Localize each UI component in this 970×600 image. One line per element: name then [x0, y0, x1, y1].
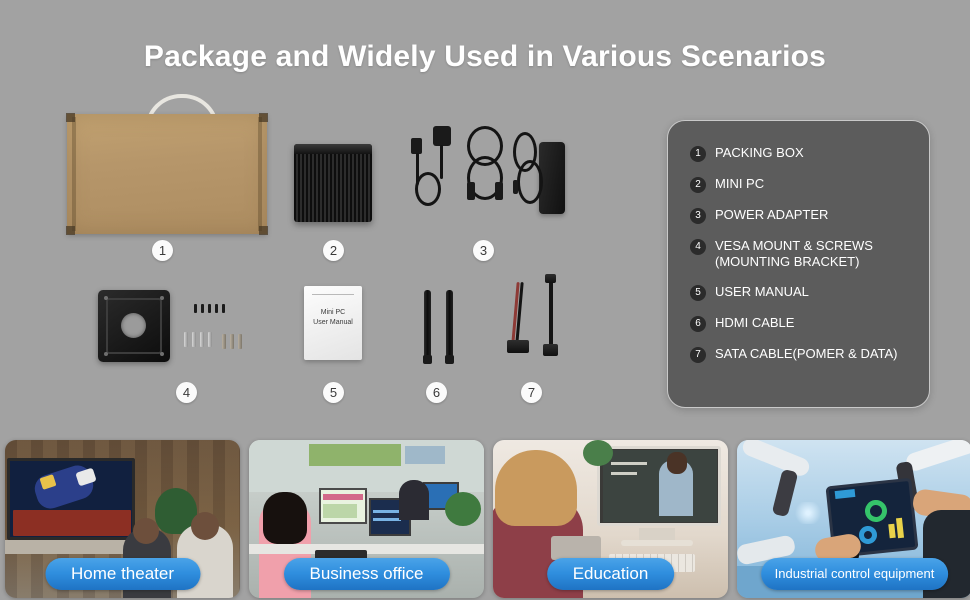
legend-item-vesa-mount: 4 VESA MOUNT & SCREWS (MOUNTING BRACKET) [690, 238, 929, 270]
manual-top-rule [312, 294, 354, 295]
manual-cover-text: Mini PC User Manual [304, 308, 362, 328]
legend-item-user-manual: 5 USER MANUAL [690, 284, 929, 301]
plant [583, 440, 613, 466]
wifi-antenna [446, 290, 453, 358]
notebook [551, 536, 601, 560]
robot-arm [740, 440, 812, 478]
legend-number-2: 2 [690, 177, 706, 193]
usage-scenarios: Home theater Business office [0, 440, 970, 600]
package-contents-showcase: 1 2 3 [0, 82, 660, 422]
dc-barrel-connector [513, 180, 518, 194]
legend-item-packing-box: 1 PACKING BOX [690, 145, 929, 162]
antenna-base [445, 355, 454, 364]
box-tab [66, 113, 75, 122]
hdmi-connector [495, 182, 503, 200]
employee [399, 480, 429, 520]
legend-label-3: POWER ADAPTER [715, 207, 828, 223]
mini-pc-chassis [294, 144, 372, 222]
legend-label-5: USER MANUAL [715, 284, 809, 300]
legend-item-hdmi-cable: 6 HDMI CABLE [690, 315, 929, 332]
scene-label-industrial-control[interactable]: Industrial control equipment [761, 558, 949, 590]
scene-label-education[interactable]: Education [547, 558, 675, 590]
item-badge-2: 2 [323, 240, 344, 261]
plant [445, 492, 481, 526]
scene-label-home-theater[interactable]: Home theater [45, 558, 200, 590]
item-badge-7: 7 [521, 382, 542, 403]
user-manual-booklet: Mini PC User Manual [304, 286, 362, 360]
legend-item-sata-cable: 7 SATA CABLE(POMER & DATA) [690, 346, 929, 363]
legend-label-7: SATA CABLE(POMER & DATA) [715, 346, 898, 362]
product-item-antennas [424, 290, 464, 366]
manual-title-line-2: User Manual [304, 318, 362, 328]
page-title: Package and Widely Used in Various Scena… [0, 40, 970, 74]
legend-item-power-adapter: 3 POWER ADAPTER [690, 207, 929, 224]
legend-number-1: 1 [690, 146, 706, 162]
power-cord-loop [415, 172, 441, 206]
manual-title-line-1: Mini PC [304, 308, 362, 318]
power-cord [440, 145, 443, 179]
product-item-vesa-mount [98, 290, 248, 370]
welding-spark [793, 502, 823, 524]
package-contents-legend: 1 PACKING BOX 2 MINI PC 3 POWER ADAPTER … [667, 120, 930, 408]
sata-power-connector [507, 340, 529, 353]
legend-label-6: HDMI CABLE [715, 315, 794, 331]
legend-item-mini-pc: 2 MINI PC [690, 176, 929, 193]
box-tab [259, 226, 268, 235]
sata-data-connector [543, 344, 558, 356]
sata-data-cable [549, 278, 553, 348]
item-badge-6: 6 [426, 382, 447, 403]
vesa-bracket [98, 290, 170, 362]
cardboard-box [67, 114, 267, 234]
legend-number-6: 6 [690, 316, 706, 332]
antenna-base [423, 355, 432, 364]
scene-business-office[interactable]: Business office [249, 440, 484, 598]
wifi-antenna [424, 290, 431, 358]
legend-label-1: PACKING BOX [715, 145, 804, 161]
vesa-screw-hole [104, 296, 108, 300]
legend-number-7: 7 [690, 347, 706, 363]
legend-number-3: 3 [690, 208, 706, 224]
legend-label-4: VESA MOUNT & SCREWS (MOUNTING BRACKET) [715, 238, 873, 270]
vesa-center-hole [121, 313, 146, 338]
sata-data-connector [545, 274, 556, 283]
adapter-brick [539, 142, 565, 214]
item-badge-5: 5 [323, 382, 344, 403]
mini-pc-top-face [294, 144, 372, 154]
legend-label-2: MINI PC [715, 176, 764, 192]
item-badge-3: 3 [473, 240, 494, 261]
box-tab [259, 113, 268, 122]
iec-connector [411, 138, 422, 154]
scene-education[interactable]: Education [493, 440, 728, 598]
product-item-packing-box [67, 90, 267, 240]
product-item-sata-cables [505, 278, 565, 370]
box-tab [66, 226, 75, 235]
robot-arm [904, 440, 970, 473]
item-badge-4: 4 [176, 382, 197, 403]
vesa-screw-hole [160, 296, 164, 300]
dc-cord-loop [517, 160, 543, 204]
uk-plug [433, 126, 451, 146]
item-badge-1: 1 [152, 240, 173, 261]
hdmi-connector [467, 182, 475, 200]
legend-number-4: 4 [690, 239, 706, 255]
vesa-screw-hole [104, 352, 108, 356]
scene-industrial-control[interactable]: Industrial control equipment [737, 440, 970, 598]
product-item-power-adapter [405, 120, 585, 230]
scene-home-theater[interactable]: Home theater [5, 440, 240, 598]
scene-label-business-office[interactable]: Business office [283, 558, 449, 590]
vesa-screw-hole [160, 352, 164, 356]
legend-number-5: 5 [690, 285, 706, 301]
product-item-mini-pc [294, 144, 372, 222]
